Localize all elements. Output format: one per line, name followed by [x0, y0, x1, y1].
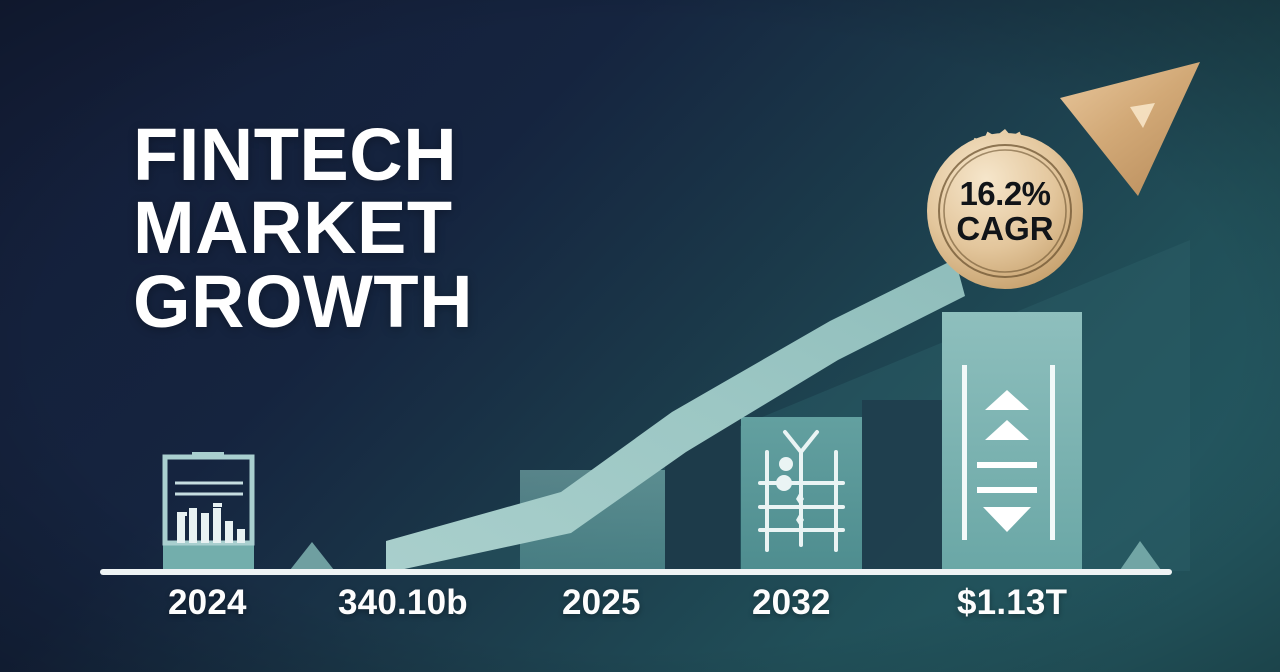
bar-gap-dark	[862, 400, 942, 571]
seal-shape	[922, 128, 1088, 294]
axis-label-1-13t: $1.13T	[957, 583, 1067, 623]
title-line-3: GROWTH	[133, 265, 603, 338]
axis-label-row: 2024 340.10b 2025 2032 $1.13T	[0, 583, 1280, 639]
infographic-canvas: FINTECH MARKET GROWTH 16.2% CAGR	[0, 0, 1280, 672]
mountain-marker-left-icon	[290, 542, 334, 570]
axis-label-2024: 2024	[168, 583, 247, 623]
axis-label-340-10b: 340.10b	[338, 583, 468, 623]
title-line-1: FINTECH	[133, 118, 603, 191]
baseline-axis	[100, 569, 1172, 575]
axis-label-2025: 2025	[562, 583, 641, 623]
cagr-badge: 16.2% CAGR	[922, 128, 1088, 294]
page-title: FINTECH MARKET GROWTH	[133, 118, 603, 338]
title-line-2: MARKET	[133, 191, 603, 264]
bar-chart-monitor-icon	[163, 452, 254, 571]
axis-label-2032: 2032	[752, 583, 831, 623]
